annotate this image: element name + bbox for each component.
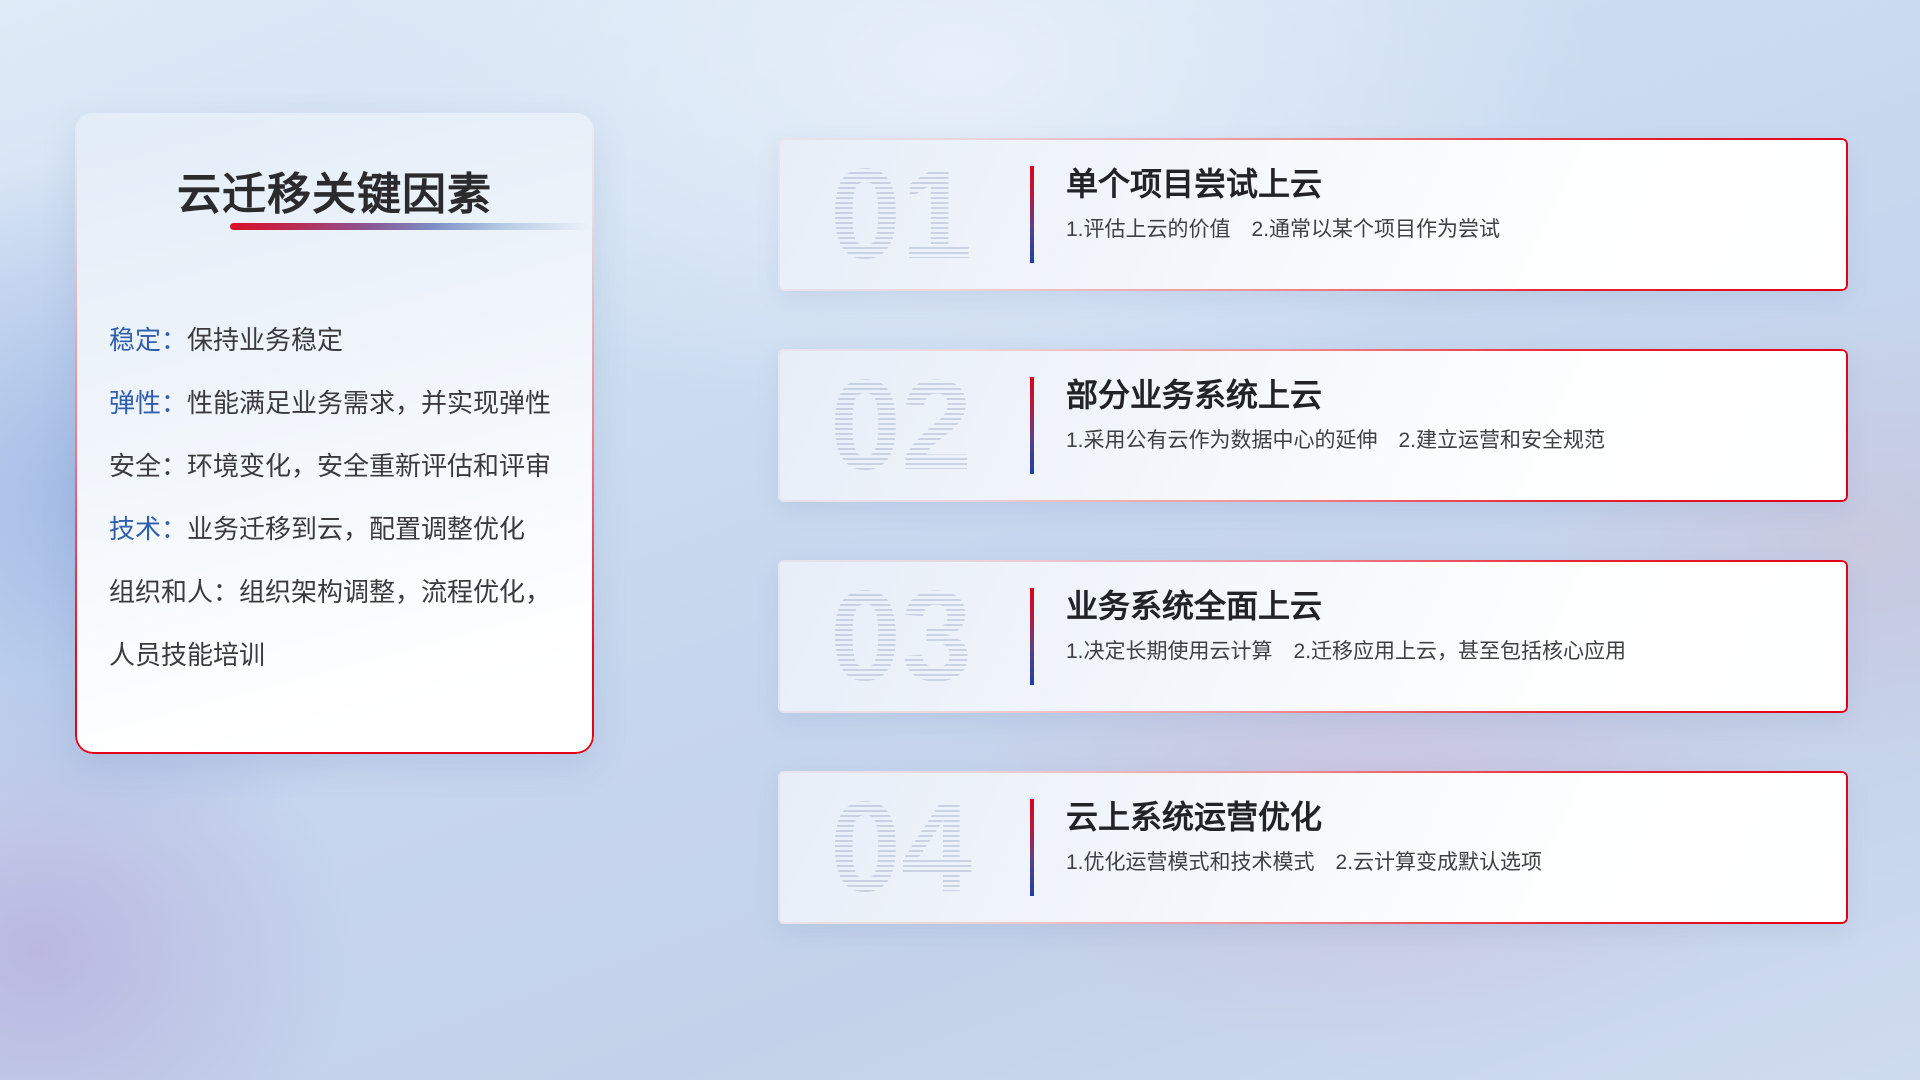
- accent-bar: [1030, 588, 1034, 685]
- stage-number-watermark: 02: [806, 349, 996, 502]
- accent-bar: [1030, 799, 1034, 896]
- factor-text: 保持业务稳定: [187, 325, 343, 355]
- stage-card-body: 业务系统全面上云 1.决定长期使用云计算 2.迁移应用上云，甚至包括核心应用: [1066, 582, 1824, 674]
- list-item: 组织和人：组织架构调整，流程优化，: [109, 561, 576, 624]
- list-item: 人员技能培训: [109, 624, 576, 687]
- stage-card-02[interactable]: 02 部分业务系统上云 1.采用公有云作为数据中心的延伸 2.建立运营和安全规范: [778, 349, 1848, 502]
- factor-key: 弹性：: [109, 388, 187, 418]
- factor-text: 组织架构调整，流程优化，: [239, 577, 551, 607]
- accent-bar: [1030, 166, 1034, 263]
- stage-title: 部分业务系统上云: [1066, 371, 1824, 419]
- stage-number-watermark: 01: [806, 138, 996, 291]
- stage-number-text: 02: [830, 354, 972, 497]
- key-factors-panel: 云迁移关键因素 稳定：保持业务稳定 弹性：性能满足业务需求，并实现弹性 安全：环…: [75, 113, 594, 754]
- factor-key: 安全：: [109, 451, 187, 481]
- accent-bar: [1030, 377, 1034, 474]
- stage-number-text: 04: [830, 776, 972, 919]
- list-item: 安全：环境变化，安全重新评估和评审: [109, 435, 576, 498]
- stage-number-text: 03: [830, 565, 972, 708]
- stage-number-watermark: 04: [806, 771, 996, 924]
- factor-text: 人员技能培训: [109, 640, 265, 670]
- stage-title: 业务系统全面上云: [1066, 582, 1824, 630]
- stage-description: 1.决定长期使用云计算 2.迁移应用上云，甚至包括核心应用: [1066, 630, 1824, 674]
- factor-text: 性能满足业务需求，并实现弹性: [187, 388, 551, 418]
- stage-description: 1.采用公有云作为数据中心的延伸 2.建立运营和安全规范: [1066, 419, 1824, 463]
- stage-description: 1.评估上云的价值 2.通常以某个项目作为尝试: [1066, 208, 1824, 252]
- stage-number-watermark: 03: [806, 560, 996, 713]
- stage-card-body: 单个项目尝试上云 1.评估上云的价值 2.通常以某个项目作为尝试: [1066, 160, 1824, 252]
- stage-description: 1.优化运营模式和技术模式 2.云计算变成默认选项: [1066, 841, 1824, 885]
- title-underline-accent: [230, 223, 590, 230]
- stage-card-01[interactable]: 01 单个项目尝试上云 1.评估上云的价值 2.通常以某个项目作为尝试: [778, 138, 1848, 291]
- stage-card-body: 部分业务系统上云 1.采用公有云作为数据中心的延伸 2.建立运营和安全规范: [1066, 371, 1824, 463]
- factor-key: 组织和人：: [109, 577, 239, 607]
- stage-title: 单个项目尝试上云: [1066, 160, 1824, 208]
- list-item: 弹性：性能满足业务需求，并实现弹性: [109, 372, 576, 435]
- stage-title: 云上系统运营优化: [1066, 793, 1824, 841]
- factor-list: 稳定：保持业务稳定 弹性：性能满足业务需求，并实现弹性 安全：环境变化，安全重新…: [109, 309, 576, 687]
- list-item: 技术：业务迁移到云，配置调整优化: [109, 498, 576, 561]
- stage-card-body: 云上系统运营优化 1.优化运营模式和技术模式 2.云计算变成默认选项: [1066, 793, 1824, 885]
- factor-text: 业务迁移到云，配置调整优化: [187, 514, 525, 544]
- factor-key: 稳定：: [109, 325, 187, 355]
- stage-card-list: 01 单个项目尝试上云 1.评估上云的价值 2.通常以某个项目作为尝试 02 部…: [778, 138, 1848, 982]
- list-item: 稳定：保持业务稳定: [109, 309, 576, 372]
- stage-card-03[interactable]: 03 业务系统全面上云 1.决定长期使用云计算 2.迁移应用上云，甚至包括核心应…: [778, 560, 1848, 713]
- stage-number-text: 01: [830, 143, 972, 286]
- stage-card-04[interactable]: 04 云上系统运营优化 1.优化运营模式和技术模式 2.云计算变成默认选项: [778, 771, 1848, 924]
- factor-key: 技术：: [109, 514, 187, 544]
- page-title: 云迁移关键因素: [75, 158, 594, 222]
- factor-text: 环境变化，安全重新评估和评审: [187, 451, 551, 481]
